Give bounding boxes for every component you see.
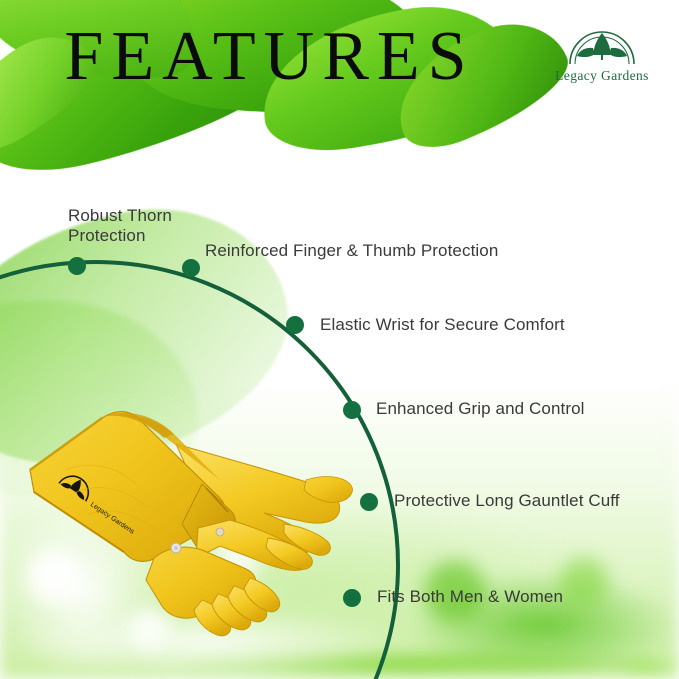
feature-label-fits-both-men-women[interactable]: Fits Both Men & Women: [377, 587, 563, 607]
feature-label-elastic-wrist[interactable]: Elastic Wrist for Secure Comfort: [320, 315, 565, 335]
feature-dot-enhanced-grip[interactable]: [343, 401, 361, 419]
feature-dot-fits-both-men-women[interactable]: [343, 589, 361, 607]
feature-dot-protective-long-gauntlet-cuff[interactable]: [360, 493, 378, 511]
feature-label-reinforced-finger-thumb[interactable]: Reinforced Finger & Thumb Protection: [205, 241, 498, 261]
infographic-canvas: FEATURES Legacy Gardens: [0, 0, 679, 679]
feature-label-protective-long-gauntlet-cuff[interactable]: Protective Long Gauntlet Cuff: [394, 491, 620, 511]
feature-label-enhanced-grip[interactable]: Enhanced Grip and Control: [376, 399, 585, 419]
feature-dot-reinforced-finger-thumb[interactable]: [182, 259, 200, 277]
feature-label-robust-thorn-protection[interactable]: Robust Thorn Protection: [68, 206, 172, 246]
feature-dot-group: [68, 257, 378, 607]
feature-dot-elastic-wrist[interactable]: [286, 316, 304, 334]
feature-circle-arc: [0, 0, 679, 679]
feature-dot-robust-thorn-protection[interactable]: [68, 257, 86, 275]
